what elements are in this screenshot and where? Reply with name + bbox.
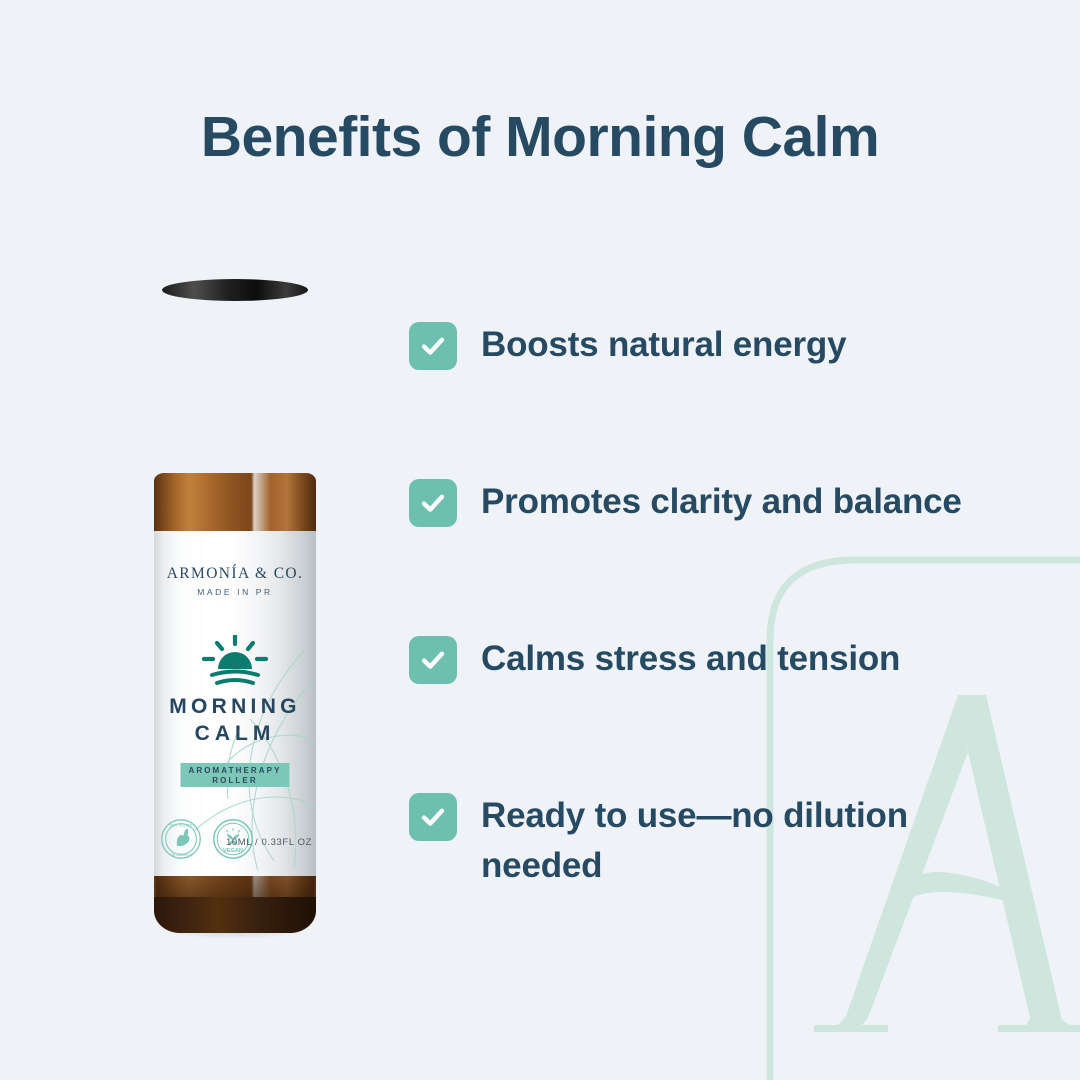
product-name-line2: CALM <box>154 721 316 748</box>
tagline-line1: AROMATHERAPY <box>188 766 281 775</box>
benefit-label: Promotes clarity and balance <box>481 475 962 527</box>
benefit-label: Ready to use—no dilution needed <box>481 789 1009 890</box>
benefit-item-boosts-energy: Boosts natural energy <box>409 318 1009 475</box>
check-icon <box>409 479 457 527</box>
benefits-list: Boosts natural energy Promotes clarity a… <box>409 318 1009 946</box>
label-brand: ARMONÍA & CO. <box>154 565 316 583</box>
label-origin: MADE IN PR <box>154 587 316 597</box>
cruelty-free-seal-icon: NOT TESTED ON ANIMALS <box>160 818 202 860</box>
tagline-line2: ROLLER <box>188 776 281 785</box>
benefit-item-ready-to-use: Ready to use—no dilution needed <box>409 789 1009 946</box>
label-product-name: MORNING CALM <box>154 694 316 748</box>
check-icon <box>409 636 457 684</box>
benefit-label: Calms stress and tension <box>481 632 900 684</box>
bottle-base <box>154 897 316 933</box>
check-icon <box>409 793 457 841</box>
sunrise-icon <box>198 635 272 689</box>
product-image: ARMONÍA & CO. MADE IN PR MORNING <box>140 283 330 943</box>
label-tagline-banner: AROMATHERAPY ROLLER <box>180 763 289 787</box>
bottle-cap <box>162 283 308 488</box>
svg-text:VEGAN: VEGAN <box>223 848 243 854</box>
benefit-label: Boosts natural energy <box>481 318 846 370</box>
product-name-line1: MORNING <box>169 695 301 718</box>
page-title: Benefits of Morning Calm <box>0 108 1080 168</box>
check-icon <box>409 322 457 370</box>
benefit-item-promotes-clarity: Promotes clarity and balance <box>409 475 1009 632</box>
label-volume: 10ML / 0.33FL OZ <box>226 837 312 848</box>
svg-text:ON ANIMALS: ON ANIMALS <box>170 853 193 857</box>
product-label: ARMONÍA & CO. MADE IN PR MORNING <box>154 531 316 876</box>
svg-text:NOT TESTED: NOT TESTED <box>170 823 193 827</box>
benefit-item-calms-stress: Calms stress and tension <box>409 632 1009 789</box>
promo-canvas: Benefits of Morning Calm <box>0 0 1080 1080</box>
cap-top-ellipse <box>162 279 308 301</box>
